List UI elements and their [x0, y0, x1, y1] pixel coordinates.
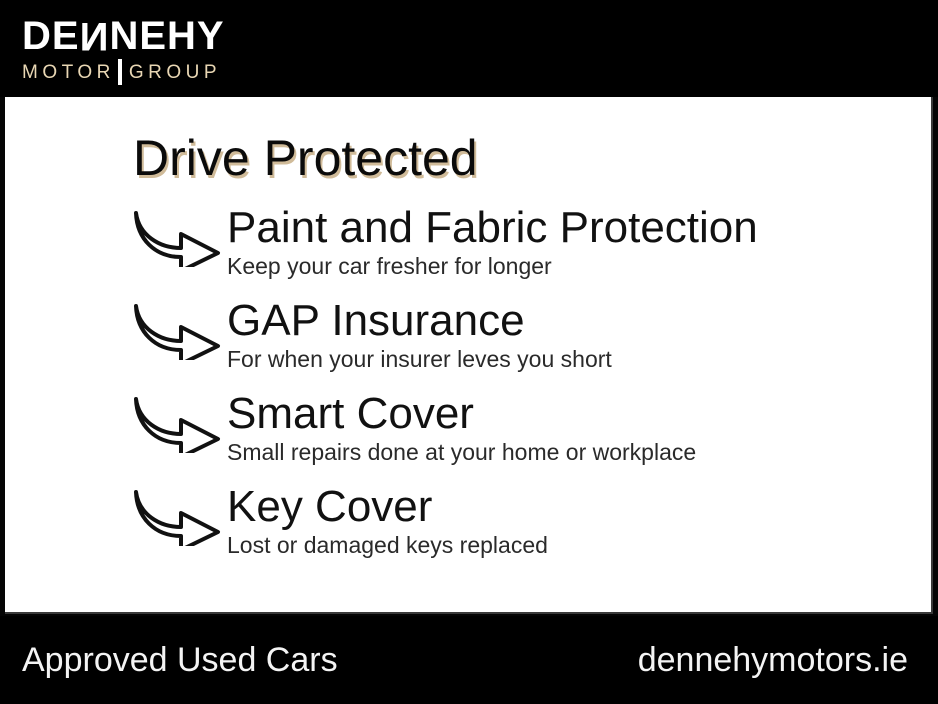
list-item-text: Smart Cover Small repairs done at your h… — [227, 389, 696, 466]
curved-arrow-right-icon — [133, 395, 221, 453]
list-item-subtitle: For when your insurer leves you short — [227, 345, 612, 373]
list-item-title: Smart Cover — [227, 389, 696, 439]
list-item: GAP Insurance For when your insurer leve… — [5, 300, 933, 393]
curved-arrow-right-icon — [133, 209, 221, 267]
list-item: Paint and Fabric Protection Keep your ca… — [5, 207, 933, 300]
logo-divider-bar-icon — [118, 59, 122, 85]
logo-wordmark-flipped-n: N — [80, 14, 110, 58]
list-item-text: GAP Insurance For when your insurer leve… — [227, 296, 612, 373]
logo-subtitle-group: GROUP — [129, 62, 221, 84]
content-panel: Drive Protected Paint and Fabric Protect… — [5, 97, 933, 614]
list-item-title: Key Cover — [227, 482, 548, 532]
list-item-subtitle: Lost or damaged keys replaced — [227, 531, 548, 559]
logo-subtitle-motor: MOTOR — [22, 62, 115, 84]
footer-website-link[interactable]: dennehymotors.ie — [638, 640, 908, 680]
logo-subtitle: MOTOR GROUP — [22, 60, 225, 86]
list-item-subtitle: Keep your car fresher for longer — [227, 252, 758, 280]
dennehy-motor-group-logo: DENNEHY MOTOR GROUP — [22, 14, 225, 86]
list-item-text: Key Cover Lost or damaged keys replaced — [227, 482, 548, 559]
footer-bar: Approved Used Cars dennehymotors.ie — [0, 616, 938, 704]
logo-wordmark-part-1: DE — [22, 14, 80, 58]
feature-list: Paint and Fabric Protection Keep your ca… — [5, 207, 933, 579]
header-bar: DENNEHY MOTOR GROUP — [0, 0, 938, 97]
list-item: Key Cover Lost or damaged keys replaced — [5, 486, 933, 579]
list-item-subtitle: Small repairs done at your home or workp… — [227, 438, 696, 466]
list-item-title: GAP Insurance — [227, 296, 612, 346]
curved-arrow-right-icon — [133, 302, 221, 360]
footer-tagline: Approved Used Cars — [22, 640, 338, 680]
advert-banner: DENNEHY MOTOR GROUP Drive Protected Pain… — [0, 0, 938, 704]
list-item: Smart Cover Small repairs done at your h… — [5, 393, 933, 486]
list-item-text: Paint and Fabric Protection Keep your ca… — [227, 203, 758, 280]
curved-arrow-right-icon — [133, 488, 221, 546]
logo-wordmark-part-2: NEHY — [109, 14, 224, 58]
logo-wordmark: DENNEHY — [22, 14, 225, 58]
list-item-title: Paint and Fabric Protection — [227, 203, 758, 253]
page-title: Drive Protected — [133, 130, 478, 186]
